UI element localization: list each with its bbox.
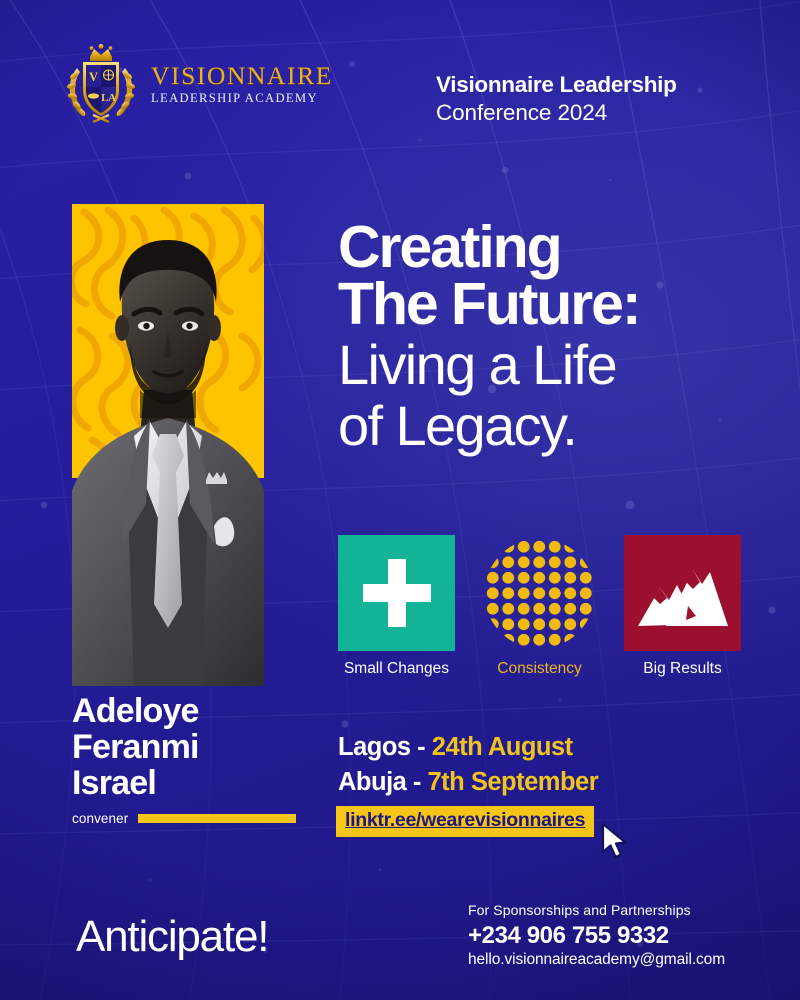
linktree-button[interactable]: linktr.ee/wearevisionnaires: [336, 806, 594, 837]
brand-logo[interactable]: V LA VISIONNAIRE LEADERSHIP ACADEMY: [63, 42, 333, 126]
headline-line3: Living a Life: [338, 336, 758, 393]
anticipate-text: Anticipate!: [76, 912, 268, 962]
value-card-big-results: Big Results: [624, 535, 741, 678]
event-city-lagos: Lagos -: [338, 733, 432, 761]
headline-line1: Creating: [338, 219, 758, 276]
contact-phone[interactable]: +234 906 755 9332: [468, 923, 725, 949]
brand-name: VISIONNAIRE: [151, 63, 333, 89]
sponsorship-label: For Sponsorships and Partnerships: [468, 902, 725, 918]
event-dates: Lagos - 24th August Abuja - 7th Septembe…: [338, 730, 598, 799]
value-props: Small Changes Consistency: [338, 535, 742, 678]
speaker-name-line3: Israel: [72, 766, 322, 800]
dot-grid-circle-icon: [481, 535, 598, 651]
speaker-info: Adeloye Feranmi Israel convener: [72, 694, 322, 826]
value-label-big-results: Big Results: [643, 660, 721, 678]
event-city-abuja: Abuja -: [338, 768, 428, 796]
mountains-icon: [624, 535, 741, 651]
poster-canvas: V LA VISIONNAIRE LEADERSHIP ACADEMY Visi…: [0, 0, 800, 1000]
plus-cross-icon: [338, 535, 455, 651]
event-row-lagos: Lagos - 24th August: [338, 730, 598, 765]
contact-block: For Sponsorships and Partnerships +234 9…: [468, 902, 725, 970]
speaker-name-line2: Feranmi: [72, 730, 322, 764]
speaker-portrait-image: [72, 204, 264, 686]
conference-title-line1: Visionnaire Leadership: [436, 72, 736, 99]
contact-email[interactable]: hello.visionnaireacademy@gmail.com: [468, 951, 725, 970]
speaker-role-row: convener: [72, 811, 322, 826]
crown-icon: [90, 44, 113, 61]
conference-title-line2: Conference 2024: [436, 99, 736, 126]
value-card-consistency: Consistency: [481, 535, 598, 678]
value-label-small-changes: Small Changes: [344, 660, 449, 678]
brand-tagline: LEADERSHIP ACADEMY: [151, 92, 333, 105]
mouse-pointer-icon: [600, 822, 630, 862]
headline-line4: of Legacy.: [338, 397, 758, 454]
speaker-name-line1: Adeloye: [72, 694, 322, 728]
value-card-small-changes: Small Changes: [338, 535, 455, 678]
shield-crest-icon: V LA: [63, 42, 139, 126]
speaker-photo: [72, 204, 264, 686]
conference-title: Visionnaire Leadership Conference 2024: [436, 72, 736, 126]
page-title: Creating The Future: Living a Life of Le…: [338, 219, 758, 454]
headline-line2: The Future:: [338, 276, 758, 333]
event-row-abuja: Abuja - 7th September: [338, 765, 598, 800]
speaker-role: convener: [72, 811, 128, 826]
lapel-crown-pin-icon: [206, 472, 227, 484]
speaker-name: Adeloye Feranmi Israel: [72, 694, 322, 800]
svg-text:LA: LA: [101, 93, 116, 104]
event-date-abuja: 7th September: [428, 768, 599, 796]
gold-accent-bar: [138, 814, 296, 823]
svg-text:V: V: [89, 70, 98, 84]
event-date-lagos: 24th August: [432, 733, 573, 761]
value-label-consistency: Consistency: [497, 660, 581, 678]
